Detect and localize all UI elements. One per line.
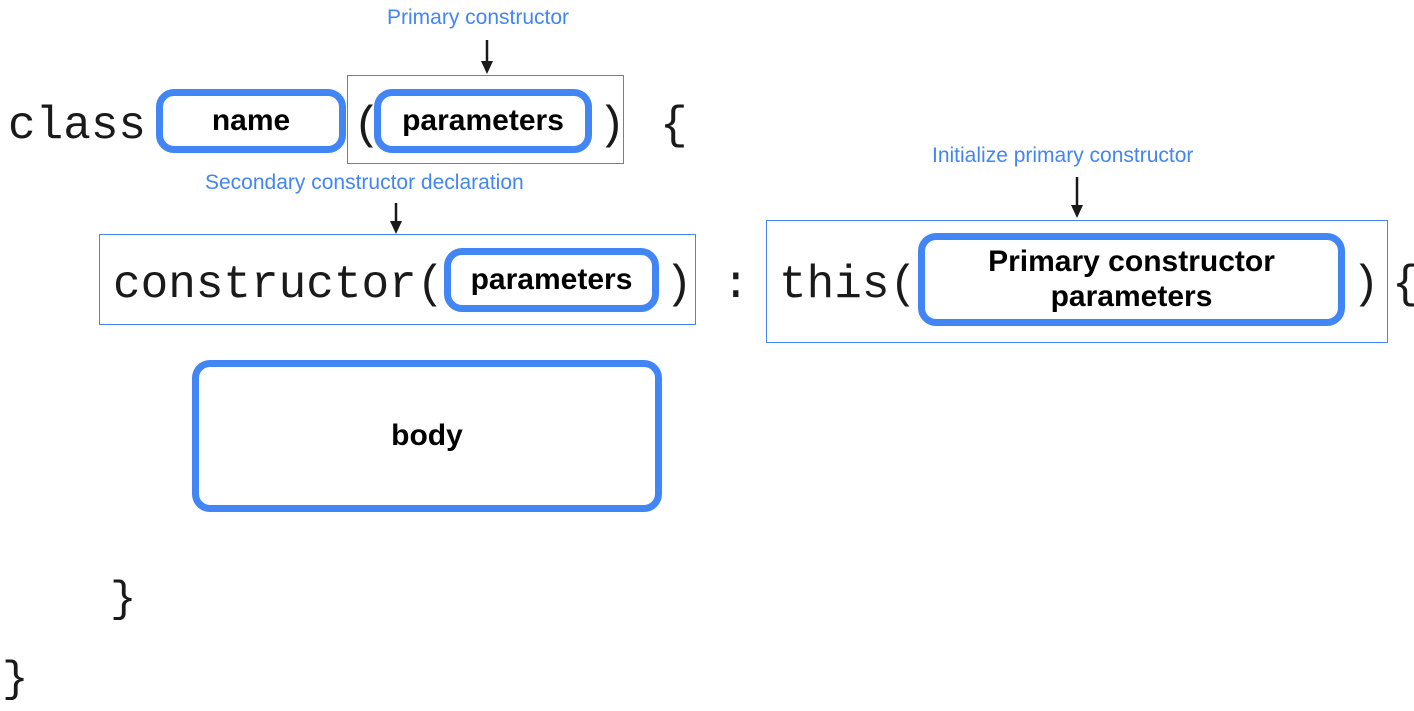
code-close-paren-this: ) <box>1352 262 1380 308</box>
code-colon-delegation: : <box>722 262 750 308</box>
secondary-parameters-label: parameters <box>471 263 633 298</box>
primary-parameters-label: parameters <box>402 104 564 139</box>
primary-constructor-parameters-box[interactable]: Primary constructor parameters <box>918 233 1345 326</box>
down-arrow-icon-primary-constructor <box>478 40 498 76</box>
class-name-box[interactable]: name <box>156 89 346 153</box>
secondary-parameters-box[interactable]: parameters <box>444 248 659 312</box>
diagram-canvas: Primary constructor class name ( paramet… <box>0 0 1414 711</box>
code-class-keyword: class <box>8 103 146 149</box>
annotation-initialize-primary-constructor: Initialize primary constructor <box>932 145 1193 166</box>
class-name-label: name <box>212 104 290 139</box>
code-open-brace-class: { <box>660 103 688 149</box>
code-this-keyword: this( <box>779 262 917 308</box>
down-arrow-icon-initialize-primary-constructor <box>1068 177 1088 220</box>
code-constructor-keyword: constructor( <box>113 262 444 308</box>
annotation-primary-constructor: Primary constructor <box>387 7 569 28</box>
primary-constructor-parameters-label: Primary constructor parameters <box>988 245 1275 314</box>
code-close-paren-primary: ) <box>598 103 626 149</box>
code-close-brace-class: } <box>2 658 28 702</box>
body-box[interactable]: body <box>192 360 662 512</box>
code-close-paren-secondary: ) <box>665 262 693 308</box>
annotation-secondary-constructor-declaration: Secondary constructor declaration <box>205 172 524 193</box>
body-label: body <box>391 419 463 454</box>
primary-parameters-box[interactable]: parameters <box>374 89 592 153</box>
down-arrow-icon-secondary-constructor <box>387 203 407 236</box>
code-close-brace-secondary-constructor: } <box>110 578 136 622</box>
code-open-brace-secondary: { <box>1392 262 1414 308</box>
